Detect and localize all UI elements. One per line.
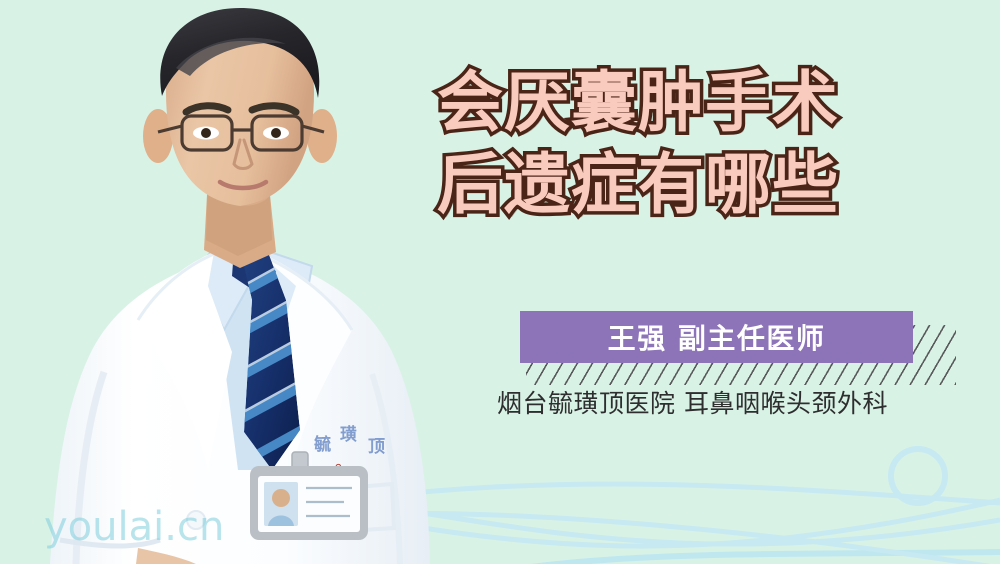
title-line-2: 后遗症有哪些 (437, 144, 982, 226)
watermark: youlai.cn (44, 504, 224, 550)
page-title: 会厌囊肿手术 后遗症有哪些 (437, 62, 982, 226)
doctor-portrait: 毓 璜 顶 ❀ (0, 0, 470, 564)
hospital-department-line: 烟台毓璜顶医院 耳鼻咽喉头颈外科 (497, 384, 888, 420)
decor-node-circle (891, 449, 945, 503)
badge-label: 王强 副主任医师 (608, 317, 826, 357)
title-line-1: 会厌囊肿手术 (437, 62, 982, 144)
svg-text:毓: 毓 (314, 434, 331, 455)
doctor-name-badge: 王强 副主任医师 (520, 311, 940, 367)
pupil-left (201, 128, 211, 138)
svg-text:顶: 顶 (368, 437, 385, 457)
pupil-right (271, 128, 281, 138)
poster-canvas: 毓 璜 顶 ❀ 会厌囊肿手术 后遗症有哪些 (0, 0, 1000, 564)
id-badge-photo-head (272, 489, 290, 507)
badge-bar: 王强 副主任医师 (520, 311, 913, 363)
svg-text:璜: 璜 (340, 424, 357, 445)
